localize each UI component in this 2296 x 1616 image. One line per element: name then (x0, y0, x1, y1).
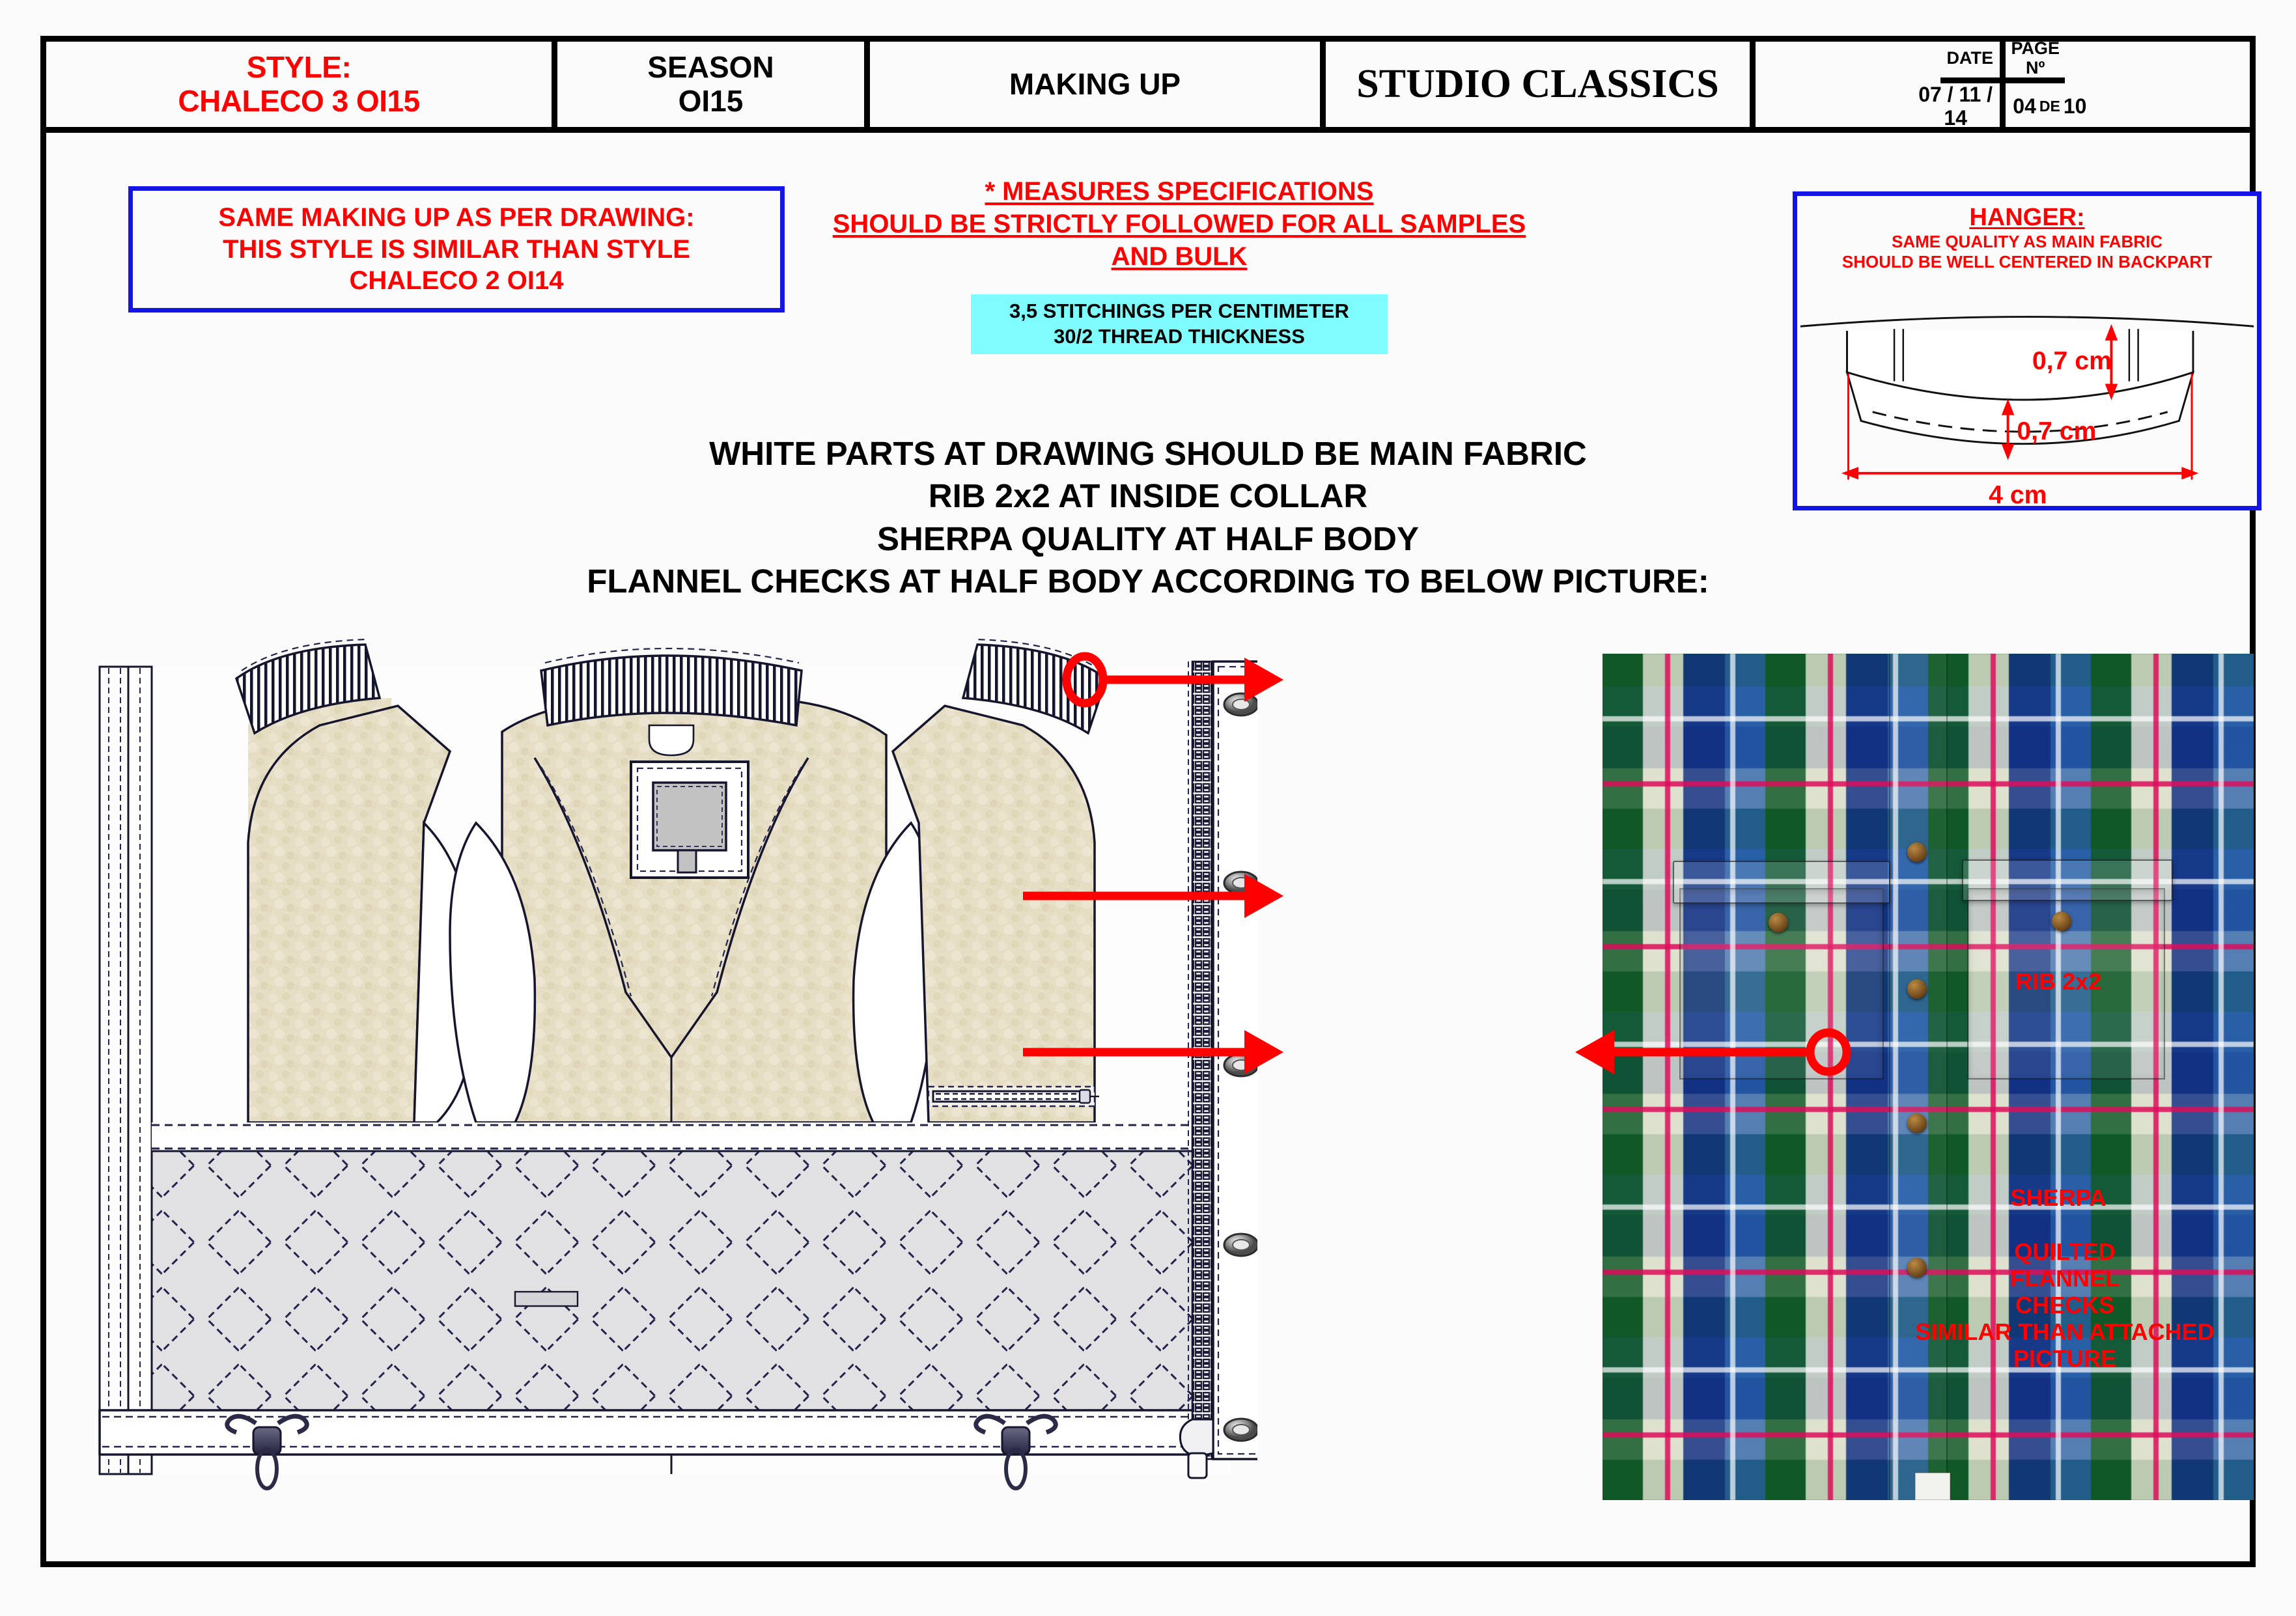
instruction-line-4: FLANNEL CHECKS AT HALF BODY ACCORDING TO… (46, 560, 2250, 602)
spec-sheet-page: STYLE: CHALECO 3 OI15 SEASON OI15 MAKING… (40, 36, 2256, 1567)
header-values-row: 07 / 11 / 14 04 DE 10 (1911, 83, 2094, 130)
note-line-1: SAME MAKING UP AS PER DRAWING: (218, 203, 694, 232)
stitch-line-1: 3,5 STITCHINGS PER CENTIMETER (1009, 299, 1349, 324)
instruction-line-2: RIB 2x2 AT INSIDE COLLAR (46, 475, 2250, 517)
note-line-3: CHALECO 2 OI14 (350, 266, 564, 295)
stitch-line-2: 30/2 THREAD THICKNESS (1054, 324, 1305, 350)
callout-quilted-right (1608, 1033, 1847, 1072)
similar-style-note-box: SAME MAKING UP AS PER DRAWING: THIS STYL… (128, 186, 785, 313)
callout-quilted-arrowhead-right (1575, 1030, 1614, 1074)
header-table: STYLE: CHALECO 3 OI15 SEASON OI15 MAKING… (46, 42, 2250, 133)
page-of-word: DE (2036, 98, 2064, 115)
callout-sherpa (1023, 876, 1250, 915)
page-value: 04 DE 10 (2006, 83, 2094, 130)
header-cell-section: MAKING UP (870, 42, 1326, 127)
callout-label-quilted: QUILTED FLANNEL CHECKS SIMILAR THAN ATTA… (1843, 1238, 2286, 1372)
instruction-line-1: WHITE PARTS AT DRAWING SHOULD BE MAIN FA… (46, 432, 2250, 475)
section-title: MAKING UP (1009, 68, 1181, 102)
style-label: STYLE: (247, 51, 352, 85)
callout-quilted-left (1023, 1033, 1250, 1072)
hanger-note-2: SHOULD BE WELL CENTERED IN BACKPART (1797, 252, 2257, 272)
instruction-line-3: SHERPA QUALITY AT HALF BODY (46, 518, 2250, 560)
measures-line-1: * MEASURES SPECIFICATIONS (985, 177, 1373, 206)
measures-line-2: SHOULD BE STRICTLY FOLLOWED FOR ALL SAMP… (833, 210, 1526, 238)
callout-rib-arrowhead (1244, 658, 1283, 702)
season-value: OI15 (679, 85, 744, 118)
rib-collar-center (541, 648, 802, 725)
page-number: 04 (2013, 95, 2036, 118)
callout-rib (1067, 656, 1250, 703)
header-cell-brand: STUDIO CLASSICS (1326, 42, 1756, 127)
callout-label-sherpa: SHERPA (1954, 1184, 2163, 1211)
header-labels-row: DATE PAGE Nº (1940, 38, 2065, 83)
callout-quilted-arrowhead-left (1244, 1030, 1283, 1074)
measures-specification-note: * MEASURES SPECIFICATIONS SHOULD BE STRI… (821, 175, 1537, 273)
callout-label-rib: RIB 2x2 (1954, 968, 2163, 995)
hanger-dim-top: 0,7 cm (2032, 346, 2112, 375)
page-total: 10 (2064, 95, 2087, 118)
brand-name: STUDIO CLASSICS (1356, 62, 1719, 107)
stitching-spec-box: 3,5 STITCHINGS PER CENTIMETER 30/2 THREA… (971, 294, 1388, 354)
season-label: SEASON (647, 51, 774, 85)
date-label: DATE (1940, 38, 2006, 77)
similar-style-note-text: SAME MAKING UP AS PER DRAWING: THIS STYL… (218, 202, 694, 297)
callout-annotations (1023, 628, 2260, 1552)
callout-sherpa-arrowhead (1244, 874, 1283, 918)
hanger-title: HANGER: (1797, 204, 2257, 232)
hanger-note-1: SAME QUALITY AS MAIN FABRIC (1797, 232, 2257, 252)
page-label: PAGE Nº (2006, 38, 2065, 77)
left-facing-strip (100, 667, 152, 1474)
fabric-instructions: WHITE PARTS AT DRAWING SHOULD BE MAIN FA… (46, 432, 2250, 602)
date-value: 07 / 11 / 14 (1911, 83, 2006, 130)
hem-detail-tab (515, 1292, 578, 1306)
header-cell-date-page: DATE PAGE Nº 07 / 11 / 14 04 DE 10 (1756, 42, 2250, 127)
style-value: CHALECO 3 OI15 (178, 85, 419, 118)
header-cell-season: SEASON OI15 (557, 42, 870, 127)
note-line-2: THIS STYLE IS SIMILAR THAN STYLE (223, 235, 690, 264)
measures-line-3: AND BULK (1112, 242, 1248, 271)
header-cell-style: STYLE: CHALECO 3 OI15 (46, 42, 557, 127)
